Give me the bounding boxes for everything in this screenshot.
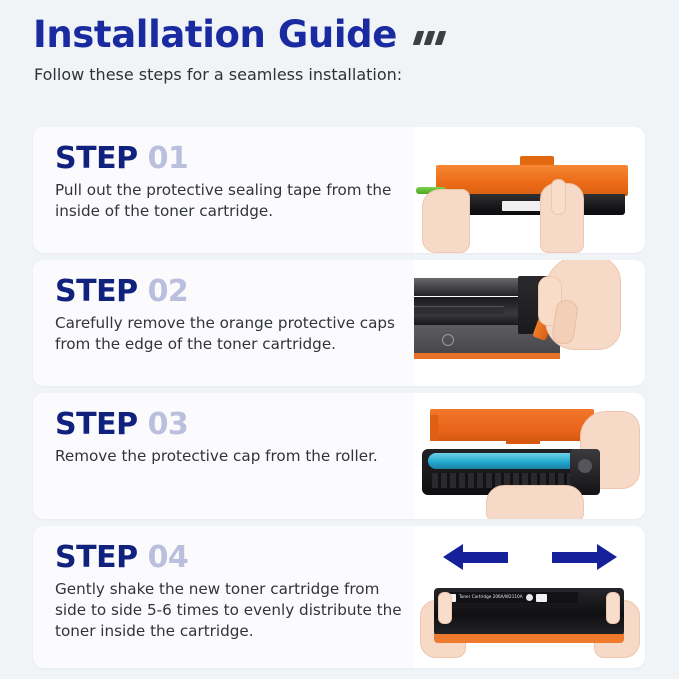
step-description: Gently shake the new toner cartridge fro… [55, 579, 404, 641]
page-subtitle: Follow these steps for a seamless instal… [34, 65, 679, 84]
step-number-label: 04 [148, 543, 189, 573]
step-card-body: STEP 04 Gently shake the new toner cartr… [33, 526, 414, 668]
step-card-02: STEP 02 Carefully remove the orange prot… [33, 260, 645, 386]
step-image-01 [414, 127, 645, 253]
step-image-04: Toner Cartridge 206A/W2110A [414, 526, 645, 668]
step-word-label: STEP [55, 543, 138, 573]
step-description: Carefully remove the orange protective c… [55, 313, 404, 355]
supporting-hand [486, 485, 584, 519]
right-thumb [606, 592, 620, 624]
label-end-chip [536, 594, 547, 602]
step-heading: STEP 01 [55, 144, 404, 174]
orange-base-strip [434, 634, 624, 643]
step-heading: STEP 03 [55, 410, 404, 440]
step-card-03: STEP 03 Remove the protective cap from t… [33, 393, 645, 519]
step-card-body: STEP 03 Remove the protective cap from t… [33, 393, 414, 519]
right-thumb [551, 179, 566, 215]
arrow-right-icon [552, 552, 598, 563]
step-card-body: STEP 02 Carefully remove the orange prot… [33, 260, 414, 386]
step-heading: STEP 02 [55, 277, 404, 307]
step-number-label: 02 [148, 277, 189, 307]
title-row: Installation Guide [33, 16, 679, 55]
step-heading: STEP 04 [55, 543, 404, 573]
step-card-01: STEP 01 Pull out the protective sealing … [33, 127, 645, 253]
arrow-left-icon [462, 552, 508, 563]
step-number-label: 03 [148, 410, 189, 440]
left-hand [422, 189, 470, 253]
cyan-roller-drum [428, 453, 588, 469]
page-header: Installation Guide Follow these steps fo… [0, 0, 679, 84]
step-word-label: STEP [55, 410, 138, 440]
cartridge-label-text: Toner Cartridge 206A/W2110A [459, 595, 523, 599]
shake-direction-arrows [438, 546, 624, 574]
installation-guide-page: Installation Guide Follow these steps fo… [0, 0, 679, 679]
orange-base-strip [414, 353, 560, 359]
slash-marks-icon [415, 31, 444, 45]
step-word-label: STEP [55, 277, 138, 307]
orange-protective-cap [430, 409, 594, 441]
step-image-02 [414, 260, 645, 386]
label-seal-dot [526, 594, 533, 601]
step-card-body: STEP 01 Pull out the protective sealing … [33, 127, 414, 253]
page-title: Installation Guide [33, 16, 397, 55]
step-card-04: STEP 04 Gently shake the new toner cartr… [33, 526, 645, 668]
left-thumb [438, 592, 452, 624]
step-number-label: 01 [148, 144, 189, 174]
step-description: Pull out the protective sealing tape fro… [55, 180, 404, 222]
step-image-03 [414, 393, 645, 519]
step-description: Remove the protective cap from the rolle… [55, 446, 404, 467]
cartridge-product-label: Toner Cartridge 206A/W2110A [442, 592, 578, 603]
step-word-label: STEP [55, 144, 138, 174]
steps-list: STEP 01 Pull out the protective sealing … [33, 127, 645, 675]
